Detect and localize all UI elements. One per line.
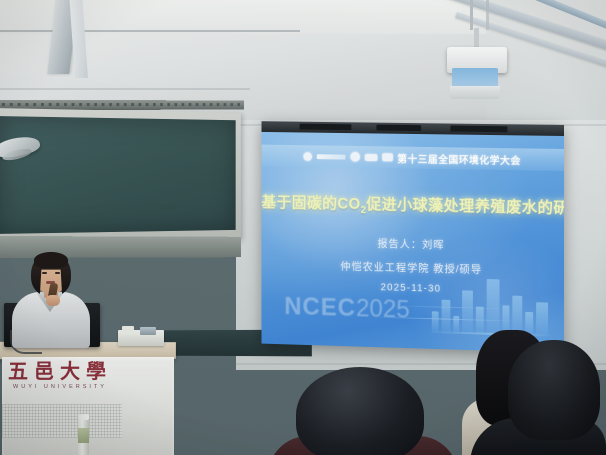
water-bottle-cap (78, 414, 89, 420)
speaker-hair-fringe (34, 252, 68, 268)
speaker-hand (46, 295, 60, 306)
conference-logo-2-icon (350, 152, 360, 162)
projector-mount-pole (470, 0, 473, 30)
skyline-building (432, 311, 439, 333)
watermark-text: NCEC (284, 292, 356, 321)
university-name-cn: 五邑大學 (0, 362, 120, 382)
chalkboard (0, 108, 241, 244)
slide-title-part1: 基于固碳的CO (261, 194, 360, 213)
slide-title: 基于固碳的CO2促进小球藻处理养殖废水的研究 (261, 190, 564, 220)
chalkboard-surface (0, 116, 236, 234)
screen-frame-notch (300, 124, 352, 131)
speaker-eye (55, 272, 60, 274)
podium-desk-item (140, 327, 156, 335)
projector-underside (450, 86, 500, 99)
conference-logo-3-icon (364, 153, 377, 160)
skyline-graphic (428, 268, 556, 337)
conference-title: 第十三届全国环境化学大会 (397, 150, 521, 167)
projector-mount-pole (486, 0, 489, 30)
podium-university-sign: 五邑大學 WUYI UNIVERSITY (0, 362, 120, 402)
podium-desk-item (122, 326, 134, 334)
skyline-building (442, 300, 451, 334)
slide-presenter: 报告人：刘晖 (261, 233, 564, 255)
slide-title-part2: 促进小球藻处理养殖废水的研究 (366, 196, 564, 217)
water-bottle-label (78, 428, 89, 443)
screen-surface: 第十三届全国环境化学大会 基于固碳的CO2促进小球藻处理养殖废水的研究 报告人：… (261, 132, 564, 353)
screen-frame-notch (376, 125, 421, 131)
conference-logo-1-icon (303, 152, 312, 161)
slide-header-bar: 第十三届全国环境化学大会 (261, 145, 564, 171)
skyline-building (462, 290, 473, 334)
conference-logo-4-icon (382, 153, 393, 161)
classroom-presentation-photo: 第十三届全国环境化学大会 基于固碳的CO2促进小球藻处理养殖废水的研究 报告人：… (0, 0, 606, 455)
slide-watermark: NCEC2025 (284, 292, 410, 324)
ceiling-seam (0, 88, 250, 90)
speaker-eye (42, 272, 47, 274)
audience-member-front (296, 367, 424, 455)
ceiling-seam (0, 30, 300, 32)
audience-member-right (508, 340, 600, 440)
screen-frame-notch (450, 126, 507, 133)
chalkboard-clips (0, 103, 244, 106)
watermark-year: 2025 (356, 294, 410, 323)
podium-mesh-panel (2, 404, 122, 438)
projection-screen: 第十三届全国环境化学大会 基于固碳的CO2促进小球藻处理养殖废水的研究 报告人：… (261, 121, 564, 353)
conference-wordmark-icon (316, 154, 345, 159)
skyline-building (536, 302, 548, 336)
university-name-en: WUYI UNIVERSITY (0, 385, 120, 391)
